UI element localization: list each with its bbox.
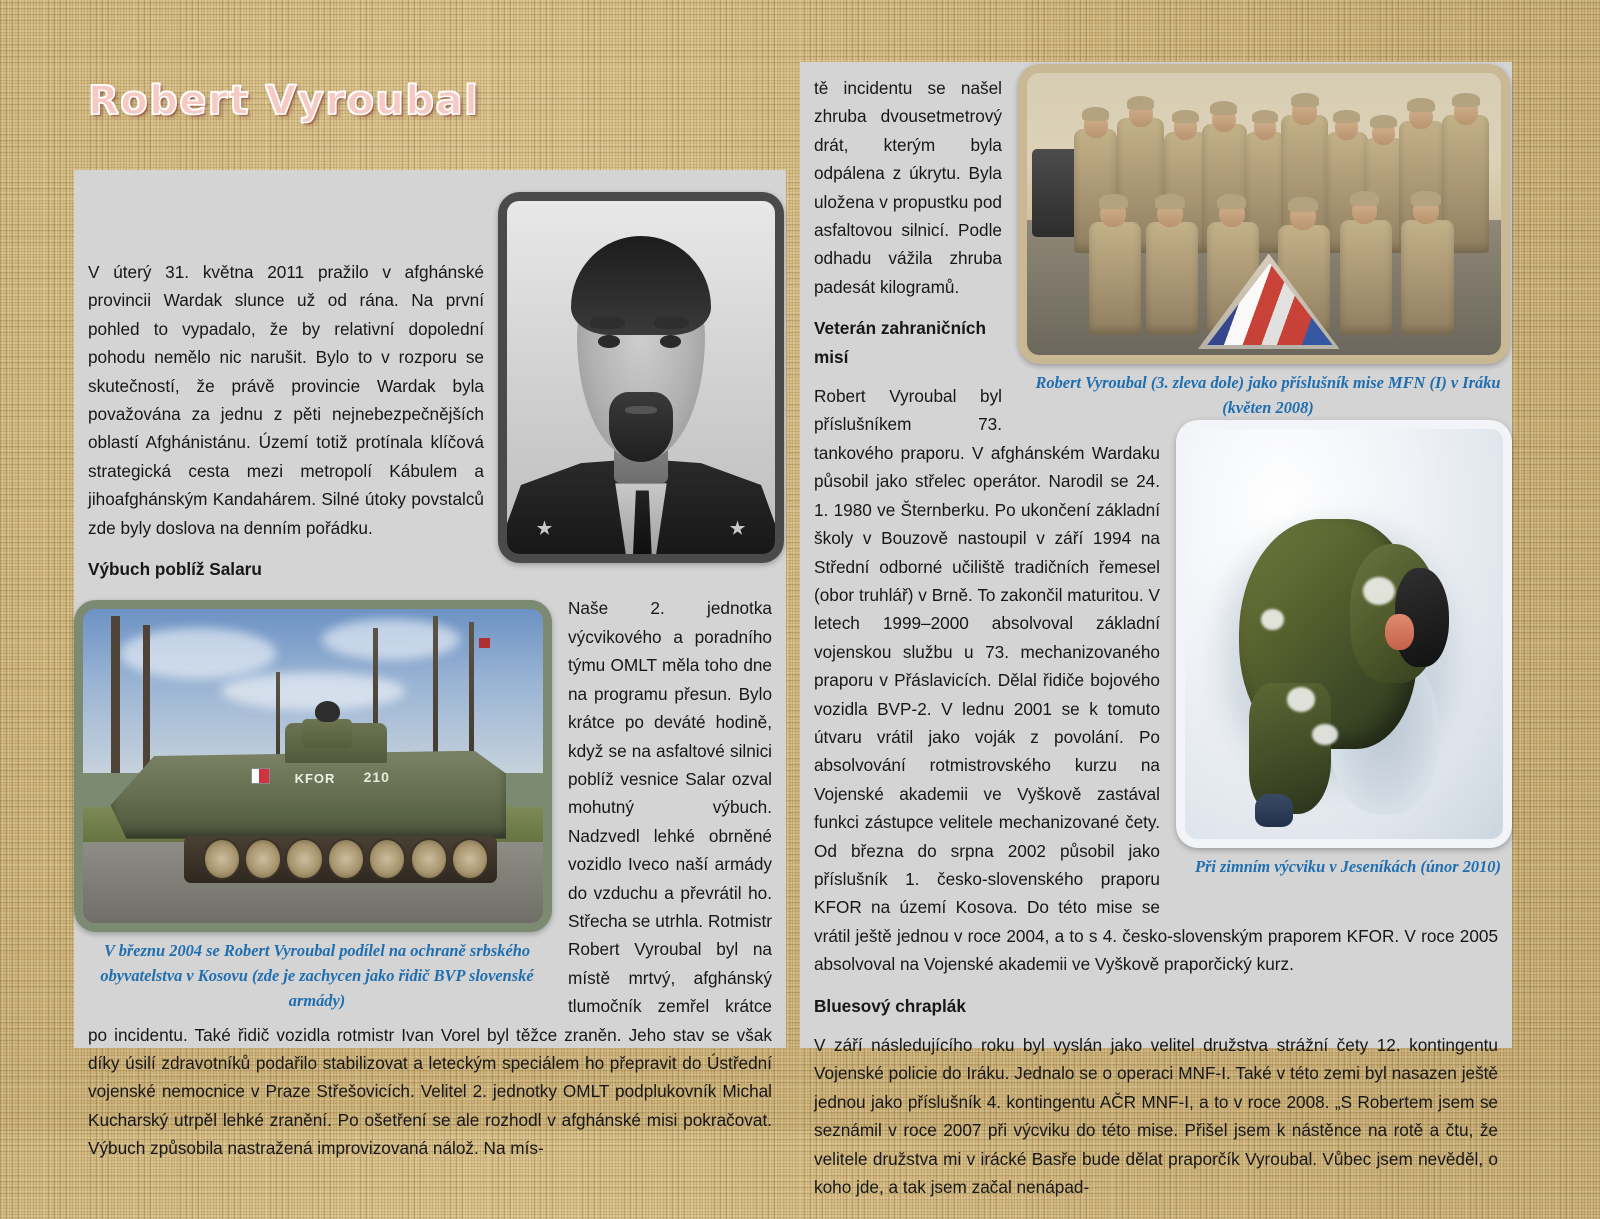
snow-photo — [1176, 420, 1512, 848]
page-title-block: Robert Vyroubal — [88, 78, 508, 138]
group-photo-float: Robert Vyroubal (3. zleva dole) jako pří… — [1018, 64, 1510, 410]
right-paragraph-3: V září následujícího roku byl vyslán jak… — [814, 1031, 1498, 1201]
right-heading-2: Bluesový chraplák — [814, 992, 1498, 1020]
portrait-photo-float — [498, 192, 784, 563]
tank-photo: KFOR 210 — [74, 600, 552, 932]
tank-kfor-marking: KFOR — [295, 765, 336, 793]
group-photo — [1018, 64, 1510, 364]
snow-photo-caption: Při zimním výcviku v Jeseníkách (únor 20… — [1176, 848, 1520, 879]
tank-number-marking: 210 — [364, 763, 390, 791]
right-column-textflow: Robert Vyroubal (3. zleva dole) jako pří… — [800, 62, 1512, 1219]
tank-photo-float: KFOR 210 V březnu 2004 se Robert Vyrouba… — [74, 600, 552, 998]
magazine-page: Robert Vyroubal Pohodový Virus — [0, 0, 1600, 1131]
portrait-photo — [498, 192, 784, 563]
tank-photo-caption: V březnu 2004 se Robert Vyroubal podílel… — [74, 932, 560, 1013]
left-column-textflow: V úterý 31. května 2011 pražilo v afghán… — [74, 170, 786, 1181]
right-column: Robert Vyroubal (3. zleva dole) jako pří… — [800, 62, 1512, 1048]
left-column: V úterý 31. května 2011 pražilo v afghán… — [74, 170, 786, 1048]
snow-photo-float: Při zimním výcviku v Jeseníkách (únor 20… — [1176, 420, 1512, 900]
page-title: Robert Vyroubal — [88, 78, 508, 124]
group-photo-caption: Robert Vyroubal (3. zleva dole) jako pří… — [1018, 364, 1518, 420]
